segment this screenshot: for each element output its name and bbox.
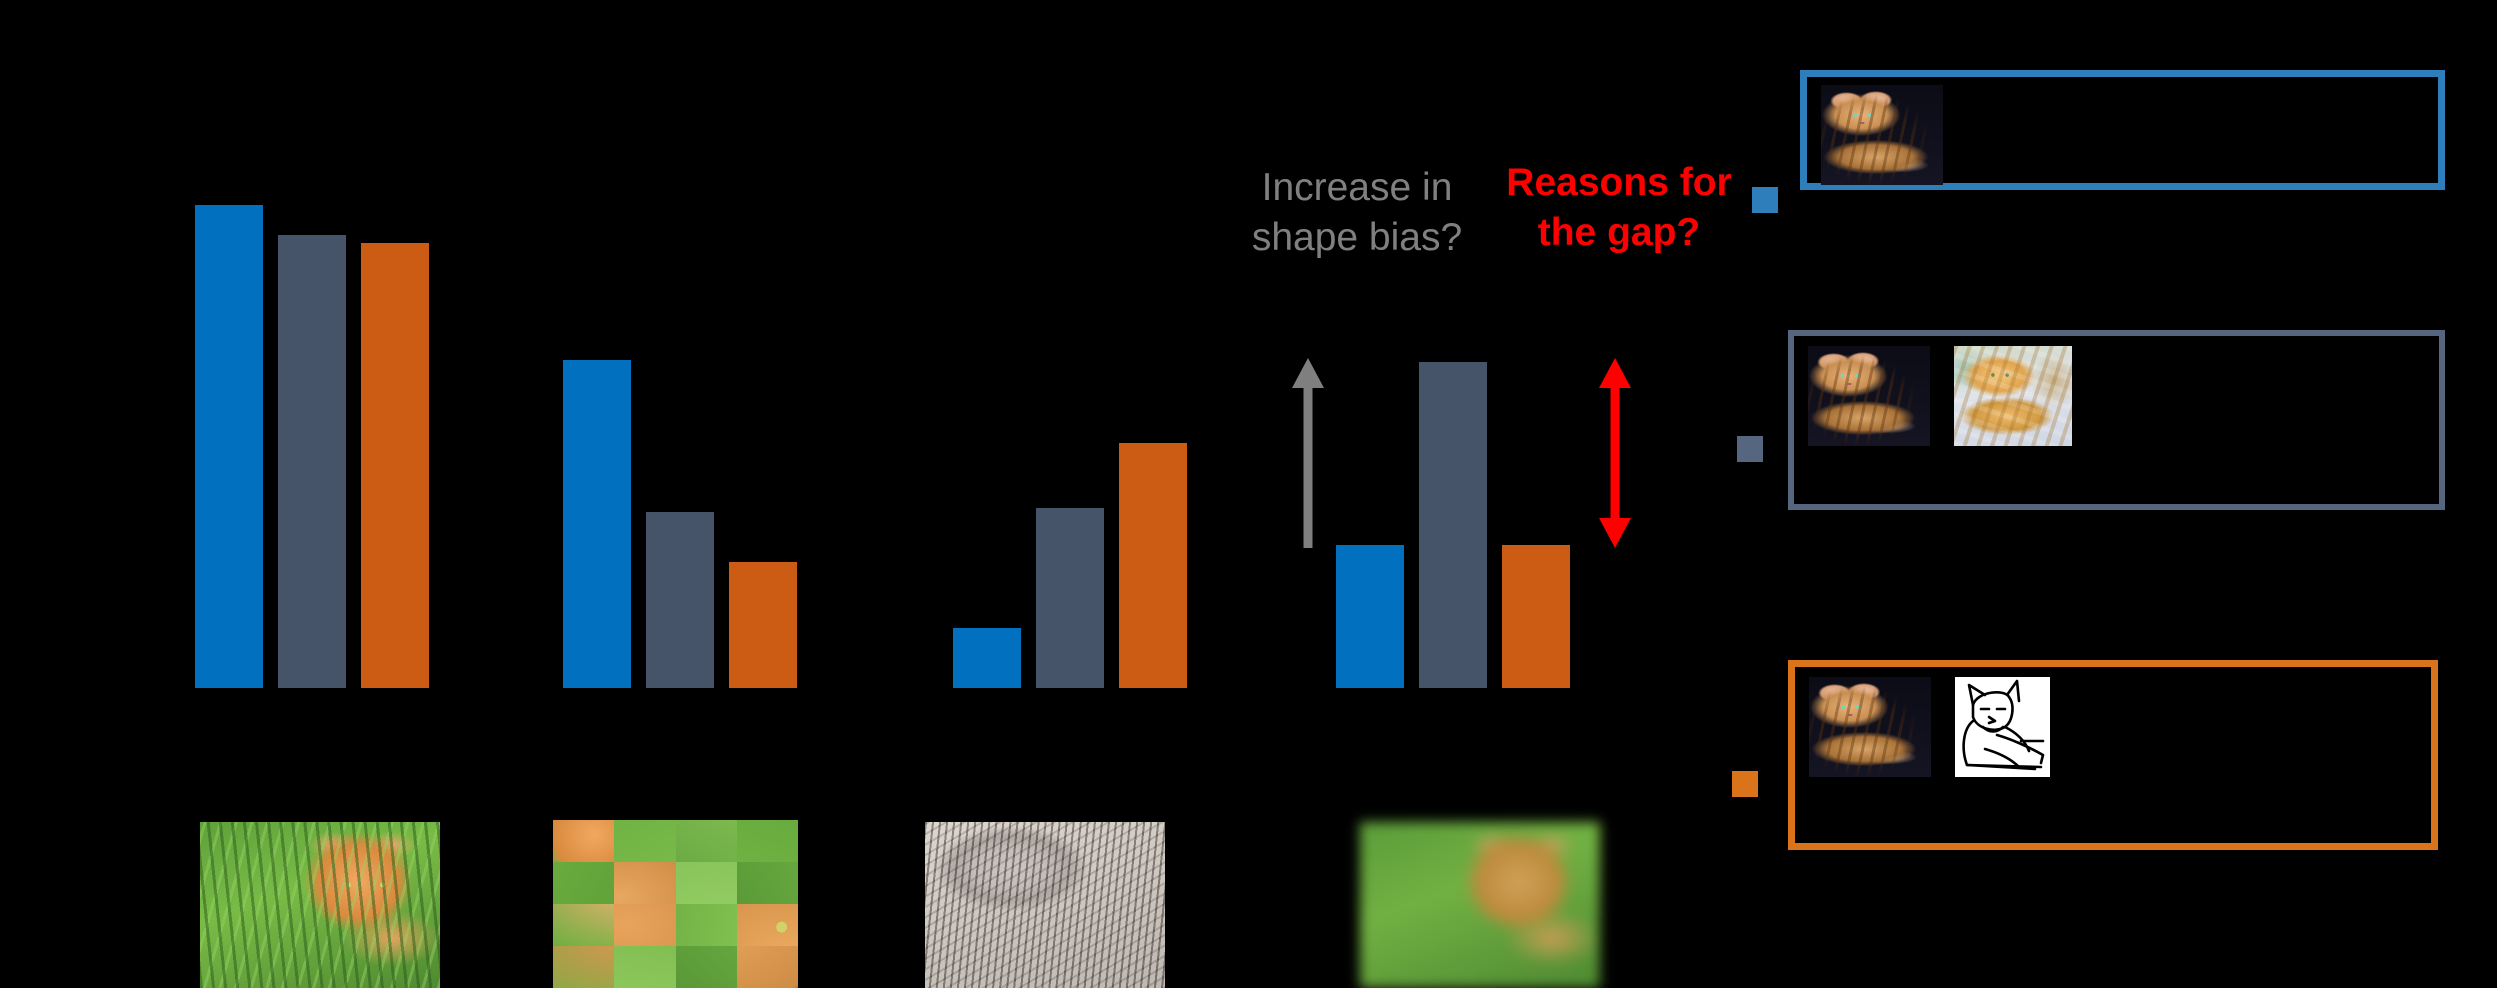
legend-box-natural-stylized xyxy=(1788,330,2445,510)
arrow-head-down-icon xyxy=(1599,518,1631,548)
patch xyxy=(676,946,737,988)
bengal-cat-photo xyxy=(1809,677,1931,777)
bengal-cat-stylized-painting xyxy=(1954,346,2072,446)
legend-images-natural-only xyxy=(1821,85,1967,185)
bar-original-natural-stylized xyxy=(278,235,346,688)
arrow-shaft xyxy=(1304,382,1313,548)
bengal-cat-photo xyxy=(1821,85,1943,185)
patch xyxy=(614,946,675,988)
bar-original-natural-sketch xyxy=(361,243,429,688)
bengal-cat-photo xyxy=(1808,346,1930,446)
cat-outline-icon xyxy=(1955,677,2050,777)
thumb-original xyxy=(200,822,440,988)
patch xyxy=(737,946,798,988)
bar-texture-natural-stylized xyxy=(1036,508,1104,688)
bar-shuffled-natural-stylized xyxy=(646,512,714,688)
patch xyxy=(614,862,675,904)
legend-box-natural-sketch xyxy=(1788,660,2438,850)
cat-texture-only-greyscale xyxy=(925,822,1165,988)
reasons-for-the-gap-label: Reasons for the gap? xyxy=(1484,158,1754,258)
patch xyxy=(614,904,675,946)
orange-tabby-cat-blurred xyxy=(1360,822,1600,988)
annotation-line-2: shape bias? xyxy=(1232,213,1482,263)
patch xyxy=(737,820,798,862)
bar-original-natural-only xyxy=(195,205,263,688)
bengal-cat-line-sketch xyxy=(1955,677,2050,777)
legend-swatch-natural-stylized xyxy=(1737,436,1763,462)
legend-swatch-natural-only xyxy=(1752,187,1778,213)
annotation-line-1: Increase in xyxy=(1232,163,1482,213)
bar-shuffled-natural-sketch xyxy=(729,562,797,688)
patch xyxy=(676,820,737,862)
gap-double-arrow xyxy=(1595,358,1635,548)
legend-swatch-natural-sketch xyxy=(1732,771,1758,797)
legend-images-natural-sketch xyxy=(1809,677,2074,777)
orange-tabby-cat-in-grass xyxy=(200,822,440,988)
arrow-shaft xyxy=(1611,384,1620,522)
thumb-blurred xyxy=(1360,822,1600,988)
thumb-texture xyxy=(925,822,1165,988)
legend-images-natural-stylized xyxy=(1808,346,2096,446)
thumb-patch-shuffled xyxy=(553,820,798,988)
patch xyxy=(737,904,798,946)
bar-blurred-natural-only xyxy=(1336,545,1404,688)
annotation-line-2: the gap? xyxy=(1484,208,1754,258)
bar-blurred-natural-stylized xyxy=(1419,362,1487,688)
patch xyxy=(737,862,798,904)
increase-in-shape-bias-label: Increase in shape bias? xyxy=(1232,163,1482,263)
patch xyxy=(614,820,675,862)
bar-texture-natural-sketch xyxy=(1119,443,1187,688)
bar-blurred-natural-sketch xyxy=(1502,545,1570,688)
figure-canvas: Increase in shape bias? Reasons for the … xyxy=(0,0,2497,988)
patch xyxy=(553,904,614,946)
patch xyxy=(553,862,614,904)
annotation-line-1: Reasons for xyxy=(1484,158,1754,208)
patch xyxy=(553,820,614,862)
patch xyxy=(676,862,737,904)
orange-tabby-cat-patch-shuffled xyxy=(553,820,798,988)
legend-box-natural-only xyxy=(1800,70,2445,190)
patch xyxy=(676,904,737,946)
patch xyxy=(553,946,614,988)
bar-texture-natural-only xyxy=(953,628,1021,688)
shape-bias-up-arrow xyxy=(1288,358,1328,548)
bar-shuffled-natural-only xyxy=(563,360,631,688)
